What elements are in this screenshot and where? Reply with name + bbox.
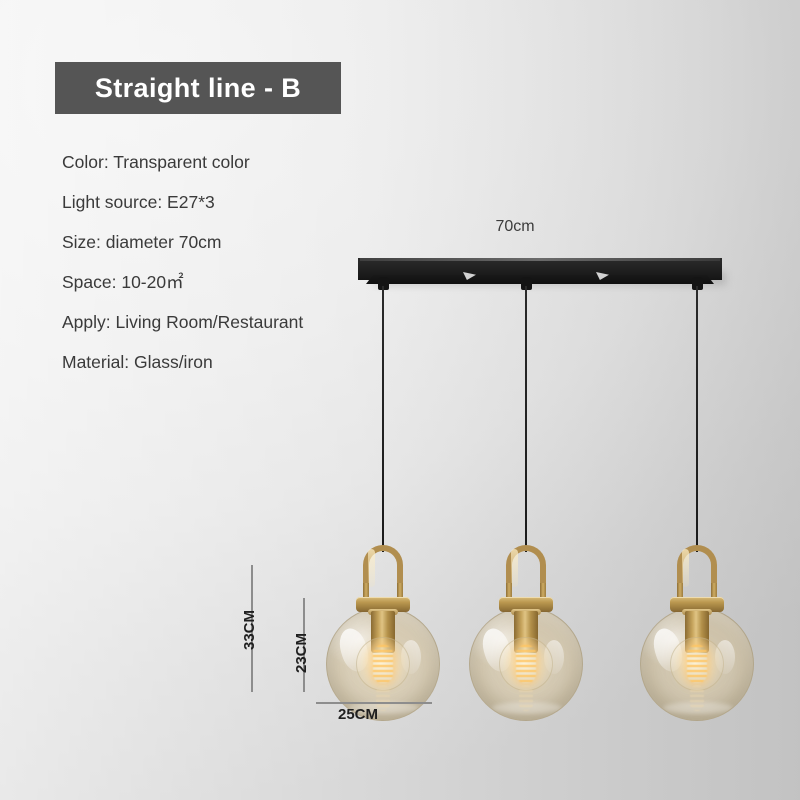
filament-reflection	[519, 685, 533, 711]
shade-height-measure-label: 23CM	[293, 633, 310, 673]
shade-width-measure-line	[316, 702, 432, 704]
canopy-front-face	[366, 275, 714, 284]
suspension-cord-right	[696, 286, 698, 552]
suspension-cord-left	[382, 286, 384, 552]
shade-width-measure-label: 25CM	[338, 706, 378, 723]
product-spec-image: Straight line - B Color: Transparent col…	[0, 0, 800, 800]
yoke-highlight	[368, 549, 375, 587]
drop-measure-label: 33CM	[241, 610, 258, 650]
filament-reflection	[376, 685, 390, 711]
filament-reflection	[690, 685, 704, 711]
yoke-highlight	[682, 549, 689, 587]
spiral-filament	[516, 645, 536, 683]
spiral-filament	[373, 645, 393, 683]
yoke-highlight	[511, 549, 518, 587]
canopy-top-highlight	[360, 258, 720, 261]
canopy-width-label: 70cm	[460, 218, 570, 236]
pendant-light-illustration: 70cm	[0, 0, 800, 800]
suspension-cord-center	[525, 286, 527, 552]
spiral-filament	[687, 645, 707, 683]
